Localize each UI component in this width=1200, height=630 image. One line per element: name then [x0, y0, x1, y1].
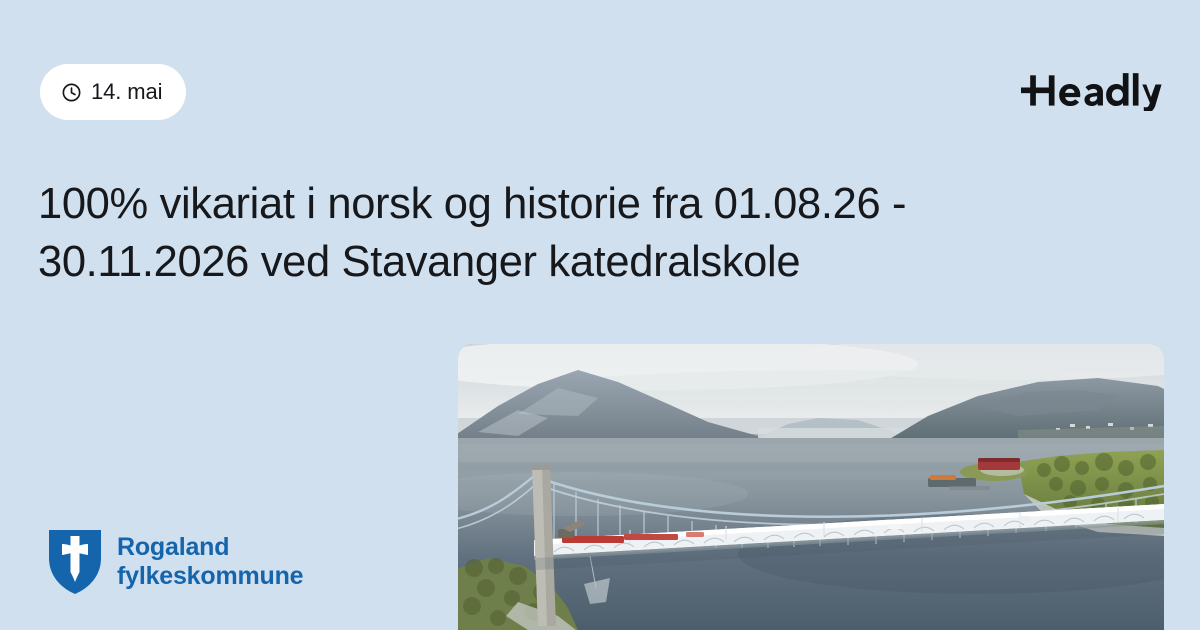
municipality-line-2: fylkeskommune [117, 562, 303, 591]
municipality-line-1: Rogaland [117, 533, 303, 562]
shield-icon [47, 528, 103, 596]
page-title: 100% vikariat i norsk og historie fra 01… [38, 176, 1108, 292]
clock-icon [61, 82, 82, 103]
headly-logo[interactable] [1021, 63, 1162, 119]
share-card: 14. mai 100% vikariat i norsk o [0, 0, 1200, 630]
date-badge: 14. mai [40, 64, 186, 120]
municipality-name: Rogaland fylkeskommune [117, 533, 303, 592]
rogaland-fylkeskommune-logo: Rogaland fylkeskommune [47, 528, 303, 596]
date-label: 14. mai [91, 79, 162, 105]
hero-image [458, 344, 1164, 630]
